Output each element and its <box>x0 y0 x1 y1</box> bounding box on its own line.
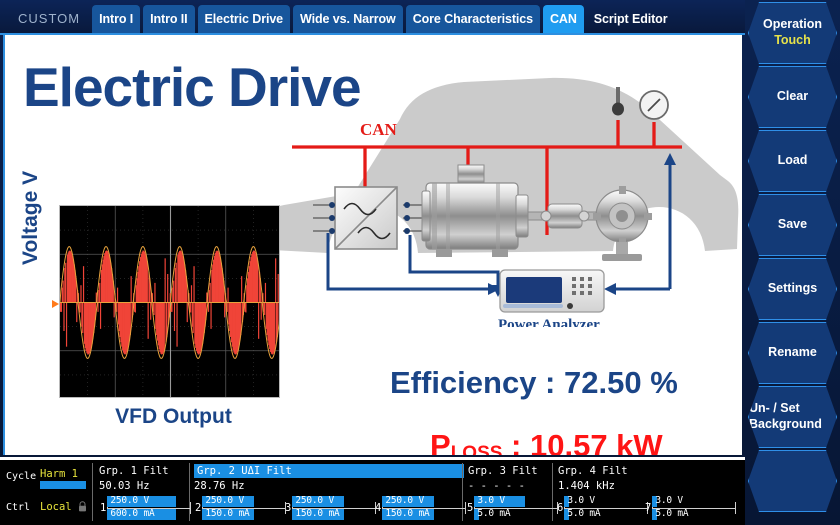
power-loss-readout: PLOSS : 10.57 kW <box>430 428 663 455</box>
lock-icon <box>78 501 87 512</box>
ctrl-value[interactable]: Local <box>40 501 72 513</box>
channel-7-voltage: 3.0 V <box>655 495 683 506</box>
channel-1-current: 600.0 mA <box>110 508 154 519</box>
custom-label: CUSTOM <box>0 11 92 33</box>
channel-7-bars: 3.0 V5.0 mA <box>652 495 736 521</box>
tab-intro-i[interactable]: Intro I <box>92 5 140 33</box>
channel-tick-right <box>190 502 191 514</box>
channel-2-voltage: 250.0 V <box>205 495 244 506</box>
waveform-display[interactable] <box>59 205 280 398</box>
scope-y-axis-label: Voltage V <box>19 145 43 265</box>
softkey-rename[interactable]: Rename <box>748 322 837 384</box>
channel-6[interactable]: 63.0 V5.0 mA <box>557 495 648 521</box>
channel-6-current: 5.0 mA <box>567 508 600 519</box>
scope-panel: Voltage V <box>23 205 283 440</box>
channel-6-bars: 3.0 V5.0 mA <box>564 495 648 521</box>
channel-tick-right <box>735 502 736 514</box>
tab-wide-vs-narrow[interactable]: Wide vs. Narrow <box>293 5 403 33</box>
channel-5-current: 5.0 mA <box>477 508 510 519</box>
tab-can[interactable]: CAN <box>543 5 584 33</box>
channel-1-bars: 250.0 V600.0 mA <box>107 495 191 521</box>
scope-caption: VFD Output <box>63 405 284 429</box>
softkey-load-label: Load <box>778 153 808 169</box>
group-2-name: Grp. 2 UΔI Filt <box>194 464 464 478</box>
softkey-clear[interactable]: Clear <box>748 66 837 128</box>
main-canvas: Electric Drive <box>3 35 742 455</box>
softkey-save[interactable]: Save <box>748 194 837 256</box>
channel-2-number: 2 <box>195 502 201 514</box>
ctrl-label: Ctrl <box>6 502 30 513</box>
channel-7-current: 5.0 mA <box>655 508 688 519</box>
tab-core-characteristics[interactable]: Core Characteristics <box>406 5 540 33</box>
softkey-settings-label: Settings <box>768 281 817 297</box>
group-3-value: - - - - - <box>468 480 525 492</box>
channel-7-number: 7 <box>645 502 651 514</box>
softkey-operation-label: Operation <box>763 17 822 33</box>
channel-5-bars: 3.0 V5.0 mA <box>474 495 558 521</box>
function-key-sidebar: Operation Touch Clear Load Save Settings… <box>745 0 840 525</box>
channel-6-voltage: 3.0 V <box>567 495 595 506</box>
can-bus-label: CAN <box>360 120 398 139</box>
channel-4[interactable]: 4250.0 V150.0 mA <box>375 495 466 521</box>
group-1-value: 50.03 Hz <box>99 480 150 492</box>
cycle-label: Cycle <box>6 471 36 482</box>
channel-4-number: 4 <box>375 502 381 514</box>
channel-4-current: 150.0 mA <box>385 508 429 519</box>
channel-2-bars: 250.0 V150.0 mA <box>202 495 286 521</box>
trigger-level-marker <box>52 300 59 308</box>
channel-3-number: 3 <box>285 502 291 514</box>
channel-4-voltage: 250.0 V <box>385 495 424 506</box>
efficiency-label: Efficiency : <box>390 365 564 400</box>
status-divider-1 <box>92 463 93 521</box>
channel-2-current: 150.0 mA <box>205 508 249 519</box>
channel-4-bars: 250.0 V150.0 mA <box>382 495 466 521</box>
status-cycle-section: Cycle Harm 1 Ctrl Local <box>4 462 90 524</box>
group-4-value: 1.404 kHz <box>558 480 615 492</box>
softkey-rename-label: Rename <box>768 345 817 361</box>
application-window: CUSTOM Intro I Intro II Electric Drive W… <box>0 0 840 525</box>
group-2-value: 28.76 Hz <box>194 480 245 492</box>
channel-1-number: 1 <box>100 502 106 514</box>
tab-electric-drive[interactable]: Electric Drive <box>198 5 291 33</box>
power-analyzer-block <box>500 270 604 312</box>
cycle-bar <box>40 481 86 489</box>
group-4-name: Grp. 4 Filt <box>558 465 628 477</box>
ploss-subscript: LOSS <box>451 443 503 455</box>
channel-3[interactable]: 3250.0 V150.0 mA <box>285 495 376 521</box>
channel-1[interactable]: 1250.0 V600.0 mA <box>100 495 191 521</box>
softkey-load[interactable]: Load <box>748 130 837 192</box>
softkey-save-label: Save <box>778 217 807 233</box>
ploss-separator: : <box>502 428 530 455</box>
softkey-operation[interactable]: Operation Touch <box>748 2 837 64</box>
softkey-operation-value: Touch <box>774 33 811 49</box>
group-1-name: Grp. 1 Filt <box>99 465 169 477</box>
channel-6-number: 6 <box>557 502 563 514</box>
softkey-empty[interactable] <box>748 450 837 512</box>
cycle-value[interactable]: Harm 1 <box>40 468 78 480</box>
power-analyzer-label: Power Analyzer <box>498 317 600 327</box>
softkey-clear-label: Clear <box>777 89 808 105</box>
tab-intro-ii[interactable]: Intro II <box>143 5 194 33</box>
efficiency-value: 72.50 % <box>564 365 678 400</box>
electric-drive-diagram: CAN <box>250 57 740 327</box>
softkey-unset-background-label: Un- / Set Background <box>749 401 836 432</box>
channel-1-voltage: 250.0 V <box>110 495 149 506</box>
tab-script-editor[interactable]: Script Editor <box>587 5 675 33</box>
channel-5-voltage: 3.0 V <box>477 495 505 506</box>
channel-2[interactable]: 2250.0 V150.0 mA <box>195 495 286 521</box>
gauge-icon <box>640 91 668 119</box>
group-3-name: Grp. 3 Filt <box>468 465 538 477</box>
status-bar: Cycle Harm 1 Ctrl Local Grp. 1 Filt 50.0… <box>0 457 745 525</box>
ploss-label: P <box>430 428 451 455</box>
channel-3-voltage: 250.0 V <box>295 495 334 506</box>
softkey-settings[interactable]: Settings <box>748 258 837 320</box>
status-bar-divider <box>0 457 745 460</box>
channel-7[interactable]: 73.0 V5.0 mA <box>645 495 736 521</box>
ploss-value: 10.57 kW <box>530 428 663 455</box>
channel-5[interactable]: 53.0 V5.0 mA <box>467 495 558 521</box>
tab-bar: CUSTOM Intro I Intro II Electric Drive W… <box>0 0 745 33</box>
channel-5-number: 5 <box>467 502 473 514</box>
softkey-unset-background[interactable]: Un- / Set Background <box>748 386 837 448</box>
efficiency-readout: Efficiency : 72.50 % <box>390 365 678 401</box>
channel-3-current: 150.0 mA <box>295 508 339 519</box>
channel-3-bars: 250.0 V150.0 mA <box>292 495 376 521</box>
